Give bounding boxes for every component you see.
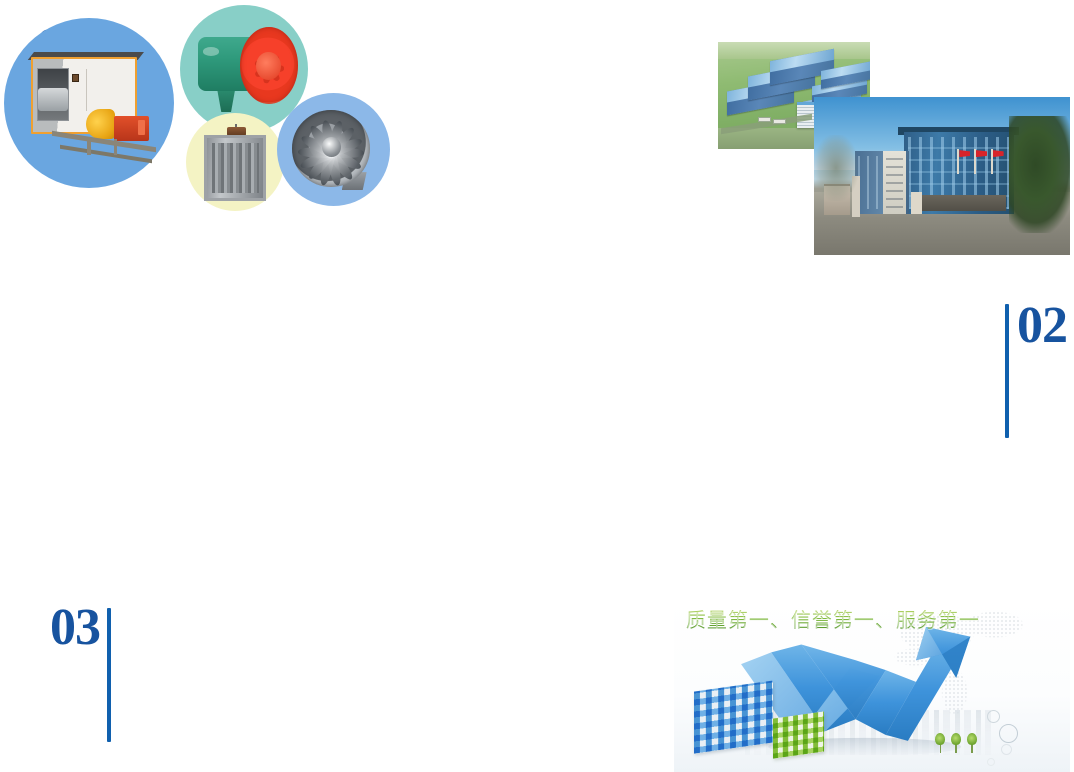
render-truck-1 xyxy=(758,117,772,122)
photo-flag-1 xyxy=(957,149,959,174)
product-fire-damper-valve xyxy=(200,124,272,206)
product-cabinet-centrifugal-fan xyxy=(22,42,170,170)
growth-arrow-banner: 质量第一、信誉第一、服务第一 xyxy=(674,600,1070,772)
damper-frame xyxy=(204,135,266,201)
damper-louvers xyxy=(212,143,259,193)
cabinet-control-box xyxy=(72,74,79,82)
cabinet-fan-wheel xyxy=(38,88,68,111)
photo-tree-right xyxy=(1009,116,1070,233)
section-marker-03-number: 03 xyxy=(50,606,100,650)
section-marker-02: 02 xyxy=(1005,300,1067,438)
metal-fan-housing xyxy=(292,110,371,187)
cabinet-panel-seam xyxy=(86,69,87,111)
blue-cube-cluster xyxy=(694,680,773,753)
photo-flag-2 xyxy=(974,149,976,174)
cabinet-base-leg-1 xyxy=(87,139,91,154)
office-building-photo xyxy=(814,97,1070,255)
section-marker-02-rule xyxy=(1005,304,1009,438)
metal-fan-hub xyxy=(322,137,341,157)
tree-icon xyxy=(951,733,961,753)
section-marker-03: 03 xyxy=(50,602,111,742)
green-cube-cluster xyxy=(773,712,824,759)
cabinet-motor xyxy=(114,116,150,140)
tree-icon xyxy=(967,733,977,753)
cabinet-belt-guard xyxy=(86,109,116,140)
product-metal-axial-fan xyxy=(286,104,382,196)
bubble-circle xyxy=(999,724,1018,743)
tree-icon xyxy=(935,733,945,753)
photo-flag-3 xyxy=(991,149,993,174)
render-truck-2 xyxy=(773,119,787,124)
section-marker-03-rule xyxy=(107,608,111,742)
cabinet-base-leg-2 xyxy=(114,139,118,154)
company-slogan-text: 质量第一、信誉第一、服务第一 xyxy=(686,609,980,631)
ventilation-product-collage xyxy=(0,0,390,224)
product-axial-flow-fan xyxy=(196,20,300,116)
bubble-circle xyxy=(1001,744,1012,755)
photo-boundary-wall xyxy=(919,195,1006,211)
photo-gate-pillar xyxy=(911,192,921,214)
photo-white-wing xyxy=(883,151,906,214)
bubble-circle xyxy=(987,710,1000,723)
bubble-circle xyxy=(987,758,995,766)
section-marker-02-number: 02 xyxy=(1017,304,1067,348)
photo-tree-left xyxy=(814,135,858,201)
